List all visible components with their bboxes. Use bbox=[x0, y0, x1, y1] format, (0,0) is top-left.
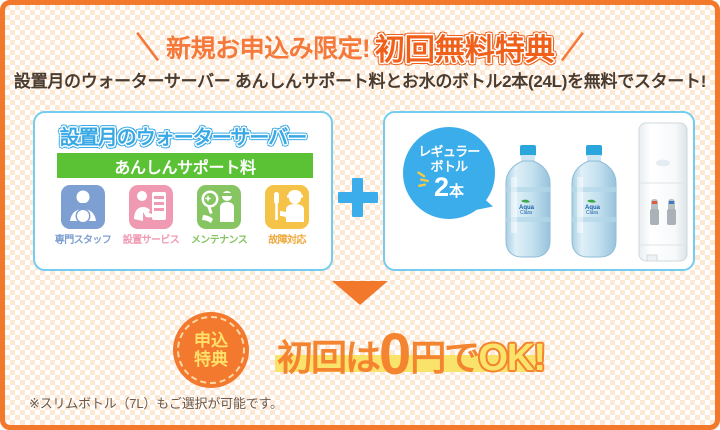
svg-text:Clara: Clara bbox=[586, 210, 598, 216]
offer-text-before: 初回は bbox=[277, 337, 379, 378]
feature-item-maintenance: メンテナンス bbox=[185, 185, 253, 246]
offer-badge: 申込 特典 bbox=[173, 312, 249, 388]
headline-part1: 新規お申込み限定! bbox=[163, 29, 373, 65]
feature-item-staff: 専門スタッフ bbox=[49, 185, 117, 246]
bubble-count-line: 2本 bbox=[434, 174, 464, 201]
feature-label-staff: 専門スタッフ bbox=[49, 231, 117, 246]
staff-icon bbox=[61, 185, 105, 229]
offer-currency: 円 bbox=[410, 337, 444, 378]
feature-label-repair: 故障対応 bbox=[253, 231, 321, 246]
offer-amount: 0 bbox=[379, 322, 410, 387]
bubble-unit: 本 bbox=[449, 183, 464, 200]
left-card-title: 設置月のウォーターサーバー bbox=[35, 121, 331, 150]
repair-icon bbox=[265, 185, 309, 229]
down-arrow-icon bbox=[332, 281, 388, 305]
maintenance-icon bbox=[197, 185, 241, 229]
water-server-icon bbox=[637, 121, 689, 267]
badge-line2: 特典 bbox=[194, 350, 228, 369]
feature-icon-list: 専門スタッフ 設置サービス bbox=[49, 185, 321, 246]
offer-headline: 初回は0円でOK! bbox=[277, 317, 545, 379]
offer-text-after: で bbox=[444, 337, 478, 378]
offer-ok-text: OK! bbox=[478, 337, 545, 379]
footnote: ※スリムボトル（7L）もご選択が可能です。 bbox=[29, 393, 283, 412]
badge-line1: 申込 bbox=[194, 331, 228, 350]
headline: ＼新規お申込み限定!初回無料特典／ bbox=[5, 25, 715, 69]
bubble-tail bbox=[475, 195, 495, 215]
promo-banner: ＼新規お申込み限定!初回無料特典／ 設置月のウォーターサーバー あんしんサポート… bbox=[0, 0, 720, 430]
headline-part2: 初回無料特典 bbox=[373, 25, 557, 69]
feature-item-installation: 設置サービス bbox=[117, 185, 185, 246]
installation-icon bbox=[129, 185, 173, 229]
support-fee-band: あんしんサポート料 bbox=[57, 153, 313, 178]
water-bottle-icon: Aqua Clara bbox=[497, 143, 559, 261]
water-bottles-group: Aqua Clara Aqua bbox=[497, 143, 627, 261]
water-bottle-icon: Aqua Clara bbox=[563, 143, 625, 261]
slash-right-decoration: ／ bbox=[551, 23, 592, 67]
left-offer-card: 設置月のウォーターサーバー あんしんサポート料 専門スタッフ bbox=[33, 111, 333, 271]
svg-text:Clara: Clara bbox=[520, 210, 532, 216]
feature-item-repair: 故障対応 bbox=[253, 185, 321, 246]
feature-label-maintenance: メンテナンス bbox=[185, 231, 253, 246]
sparkle-icon bbox=[417, 171, 437, 189]
bubble-line1: レギュラー bbox=[418, 145, 480, 159]
feature-label-installation: 設置サービス bbox=[117, 231, 185, 246]
right-offer-card: レギュラー ボトル 2本 bbox=[383, 111, 695, 271]
subheadline: 設置月のウォーターサーバー あんしんサポート料とお水のボトル2本(24L)を無料… bbox=[5, 67, 715, 92]
plus-icon bbox=[338, 177, 378, 217]
